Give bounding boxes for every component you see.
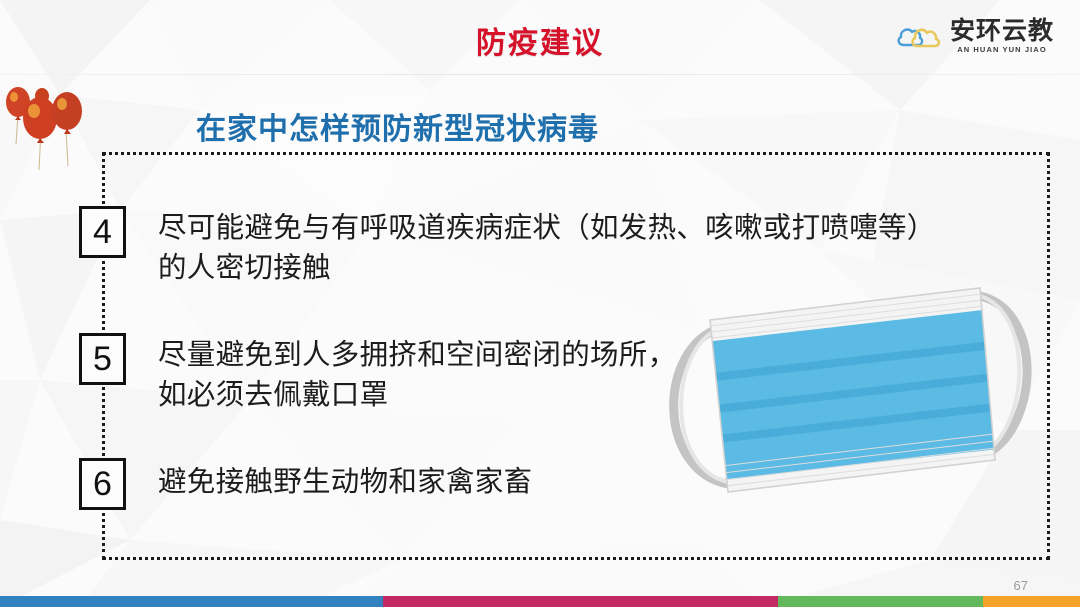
item-number-badge: 6	[79, 458, 126, 510]
footer-segment-blue	[0, 596, 383, 607]
surgical-mask-illustration	[650, 270, 1050, 550]
page-number: 67	[1014, 578, 1028, 593]
slide-canvas: 防疫建议 安环云教 AN HUAN YUN JIAO 在家中怎样预防新型冠状病毒	[0, 0, 1080, 607]
item-text: 尽量避免到人多拥挤和空间密闭的场所，如必须去佩戴口罩	[158, 335, 678, 416]
item-number-badge: 4	[79, 206, 126, 258]
footer-segment-green	[778, 596, 983, 607]
footer-segment-orange	[983, 596, 1080, 607]
item-number-badge: 5	[79, 333, 126, 385]
footer-segment-magenta	[383, 596, 777, 607]
item-text: 避免接触野生动物和家禽家畜	[158, 462, 718, 502]
footer-color-bar	[0, 596, 1080, 607]
